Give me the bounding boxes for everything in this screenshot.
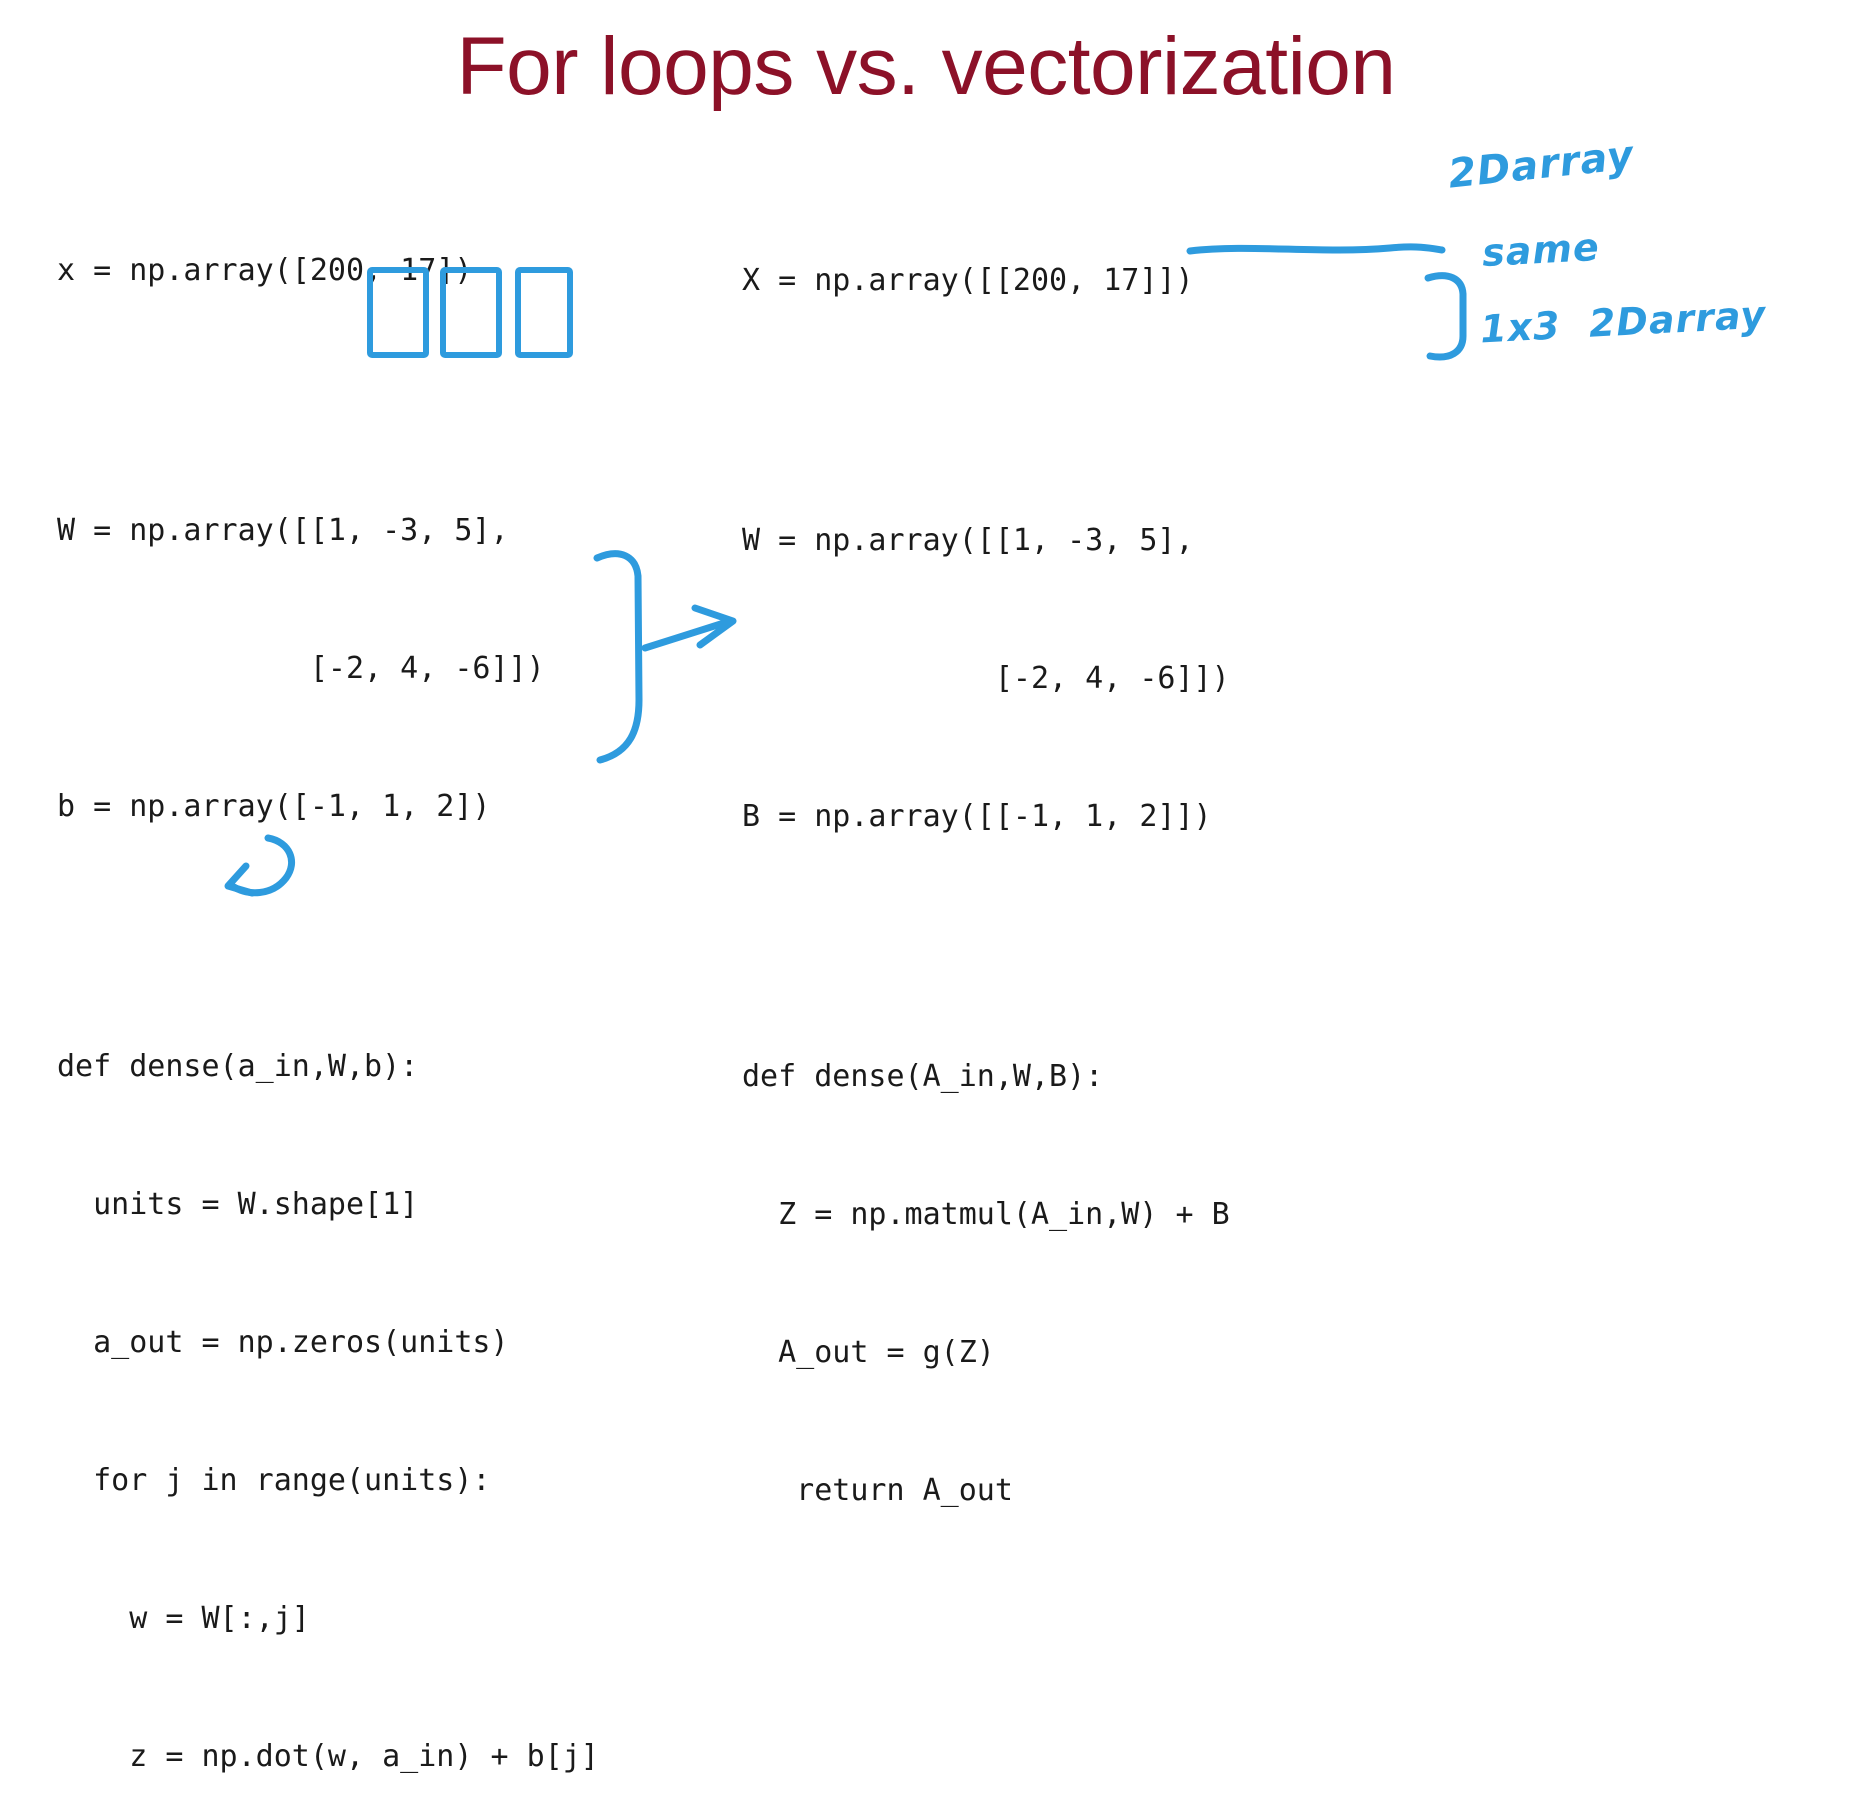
for-loop-to-vector-arrow [645,608,733,648]
code-spacer [742,396,1230,426]
code-line-w-assign-row1: W = np.array([[1, -3, 5], [57,508,599,554]
code-line-return-A-out: return A_out [742,1468,1230,1514]
code-line-units: units = W.shape[1] [57,1182,599,1228]
annotation-1x3-2d-array: 1x3 2Darray [1479,293,1767,352]
code-line-x-assign: x = np.array([200, 17]) [57,248,599,294]
code-spacer [57,386,599,416]
vectorized-code-block: X = np.array([[200, 17]]) W = np.array([… [742,166,1230,1560]
code-line-w-slice: w = W[:,j] [57,1596,599,1642]
w-same-brace [1428,276,1463,357]
code-line-for-j: for j in range(units): [57,1458,599,1504]
page-title: For loops vs. vectorization [0,22,1852,112]
code-line-A-out-g: A_out = g(Z) [742,1330,1230,1376]
code-line-W-assign-row1: W = np.array([[1, -3, 5], [742,518,1230,564]
code-line-w-assign-row2: [-2, 4, -6]]) [57,646,599,692]
code-line-X-assign: X = np.array([[200, 17]]) [742,258,1230,304]
code-line-B-assign: B = np.array([[-1, 1, 2]]) [742,794,1230,840]
code-line-def-dense-vec: def dense(A_in,W,B): [742,1054,1230,1100]
code-line-a-out-zeros: a_out = np.zeros(units) [57,1320,599,1366]
code-line-def-dense: def dense(a_in,W,b): [57,1044,599,1090]
code-line-Z-matmul: Z = np.matmul(A_in,W) + B [742,1192,1230,1238]
code-line-W-assign-row2: [-2, 4, -6]]) [742,656,1230,702]
code-line-z-dot: z = np.dot(w, a_in) + b[j] [57,1734,599,1780]
annotation-2d-array: 2Darray [1446,132,1636,197]
annotation-same: same [1481,225,1601,275]
for-loop-code-block: x = np.array([200, 17]) W = np.array([[1… [57,156,599,1820]
for-loop-brace [597,554,639,760]
code-line-b-assign: b = np.array([-1, 1, 2]) [57,784,599,830]
code-spacer [742,932,1230,962]
code-spacer [57,922,599,952]
